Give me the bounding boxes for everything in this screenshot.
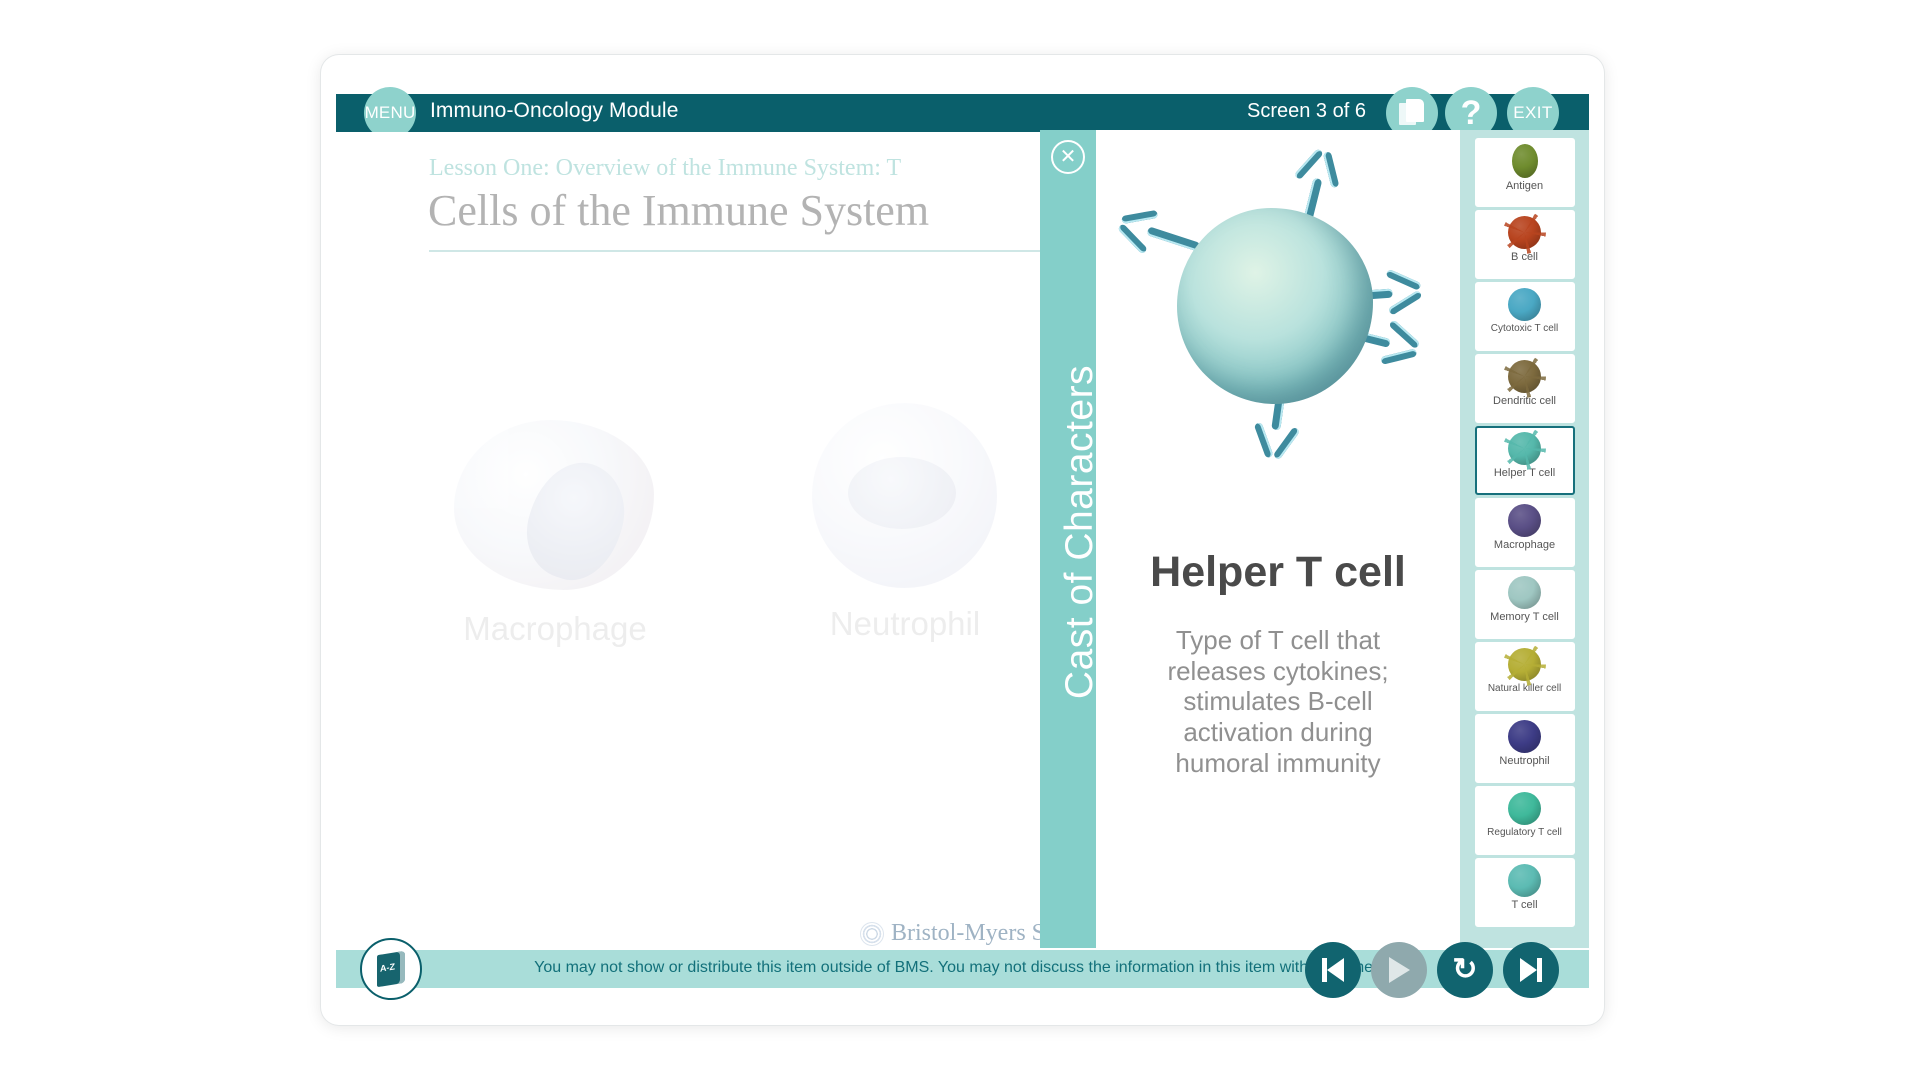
app-root: Immuno-Oncology Module Screen 3 of 6 MEN…: [0, 0, 1920, 1080]
cast-thumb-memory-t-cell[interactable]: Memory T cell: [1475, 570, 1575, 639]
bms-logo-icon: [860, 922, 884, 946]
cell-thumbnail-icon: [1512, 144, 1538, 178]
module-title: Immuno-Oncology Module: [430, 99, 678, 123]
cast-thumb-antigen[interactable]: Antigen: [1475, 138, 1575, 207]
slide-cell-neutrophil[interactable]: Neutrophil: [790, 395, 1020, 695]
cast-thumb-t-cell[interactable]: T cell: [1475, 858, 1575, 927]
neutrophil-nucleus: [848, 457, 956, 529]
previous-button[interactable]: [1305, 942, 1361, 998]
replay-icon: ↻: [1452, 955, 1477, 985]
helper-t-cell-illustration: [1125, 160, 1425, 460]
breadcrumb: Lesson One: Overview of the Immune Syste…: [429, 155, 1069, 182]
page-title: Cells of the Immune System: [428, 185, 1068, 236]
cast-thumb-label: Regulatory T cell: [1487, 828, 1562, 838]
cell-thumbnail-icon: [1508, 216, 1541, 249]
play-button[interactable]: [1371, 942, 1427, 998]
cell-thumbnail-icon: [1508, 504, 1541, 537]
cast-thumb-regulatory-t-cell[interactable]: Regulatory T cell: [1475, 786, 1575, 855]
cast-thumb-label: Antigen: [1506, 181, 1543, 192]
cast-thumb-label: Macrophage: [1494, 540, 1555, 551]
cast-thumb-label: Neutrophil: [1499, 756, 1549, 767]
screen-counter: Screen 3 of 6: [1247, 100, 1366, 123]
slide-cell-macrophage[interactable]: Macrophage: [440, 410, 670, 700]
cast-thumb-dendritic-cell[interactable]: Dendritic cell: [1475, 354, 1575, 423]
cell-body: [1177, 208, 1373, 404]
cast-thumb-helper-t-cell[interactable]: Helper T cell: [1475, 426, 1575, 495]
slide-cell-label: Macrophage: [440, 610, 670, 648]
cell-thumbnail-icon: [1508, 720, 1541, 753]
cast-detail-description: Type of T cell that releases cytokines; …: [1136, 625, 1420, 778]
title-divider: [429, 250, 1049, 252]
question-mark-icon: ?: [1461, 96, 1482, 130]
cast-thumb-label: Cytotoxic T cell: [1491, 324, 1558, 334]
cast-of-characters-tab[interactable]: Cast of Characters: [1040, 130, 1096, 948]
cell-thumbnail-icon: [1508, 288, 1541, 321]
cast-thumb-macrophage[interactable]: Macrophage: [1475, 498, 1575, 567]
document-icon: [1399, 99, 1425, 127]
cast-thumb-cytotoxic-t-cell[interactable]: Cytotoxic T cell: [1475, 282, 1575, 351]
cell-thumbnail-icon: [1508, 792, 1541, 825]
cast-thumbnail-list[interactable]: AntigenB cellCytotoxic T cellDendritic c…: [1460, 130, 1589, 948]
play-icon: [1389, 957, 1410, 983]
next-icon: [1520, 958, 1537, 982]
cast-detail-title: Helper T cell: [1096, 548, 1460, 597]
cast-thumb-neutrophil[interactable]: Neutrophil: [1475, 714, 1575, 783]
cell-thumbnail-icon: [1508, 576, 1541, 609]
cast-thumb-b-cell[interactable]: B cell: [1475, 210, 1575, 279]
cell-thumbnail-icon: [1508, 360, 1541, 393]
menu-button-label: MENU: [365, 103, 416, 123]
book-icon: [377, 951, 405, 987]
slide-cell-label: Neutrophil: [790, 605, 1020, 643]
receptor-icon: [1146, 226, 1200, 251]
cell-thumbnail-icon: [1508, 864, 1541, 897]
glossary-button[interactable]: [360, 938, 422, 1000]
replay-button[interactable]: ↻: [1437, 942, 1493, 998]
next-button[interactable]: [1503, 942, 1559, 998]
cast-thumb-label: Memory T cell: [1490, 612, 1559, 623]
cell-thumbnail-icon: [1508, 648, 1541, 681]
close-icon[interactable]: ✕: [1051, 140, 1085, 174]
exit-button-label: EXIT: [1513, 103, 1552, 123]
cast-thumb-label: T cell: [1511, 900, 1537, 911]
cast-thumb-natural-killer-cell[interactable]: Natural killer cell: [1475, 642, 1575, 711]
cell-thumbnail-icon: [1508, 432, 1541, 465]
